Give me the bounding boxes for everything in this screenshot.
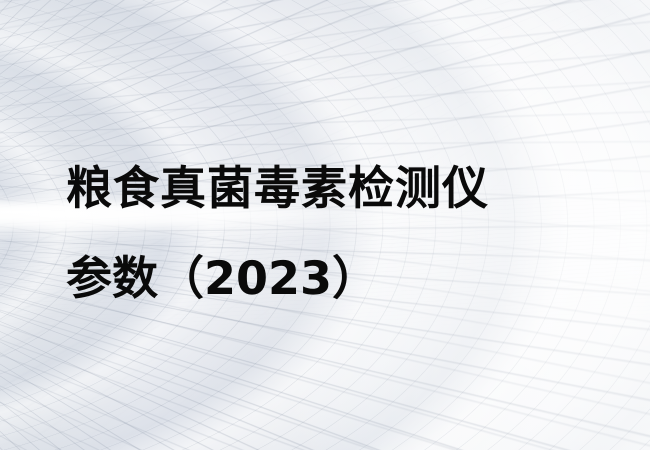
title-banner: 粮食真菌毒素检测仪 参数（2023） (0, 0, 650, 450)
title-line-primary: 粮食真菌毒素检测仪 (66, 143, 586, 233)
title-line-secondary: 参数（2023） (66, 233, 586, 323)
page-title: 粮食真菌毒素检测仪 参数（2023） (66, 143, 586, 323)
